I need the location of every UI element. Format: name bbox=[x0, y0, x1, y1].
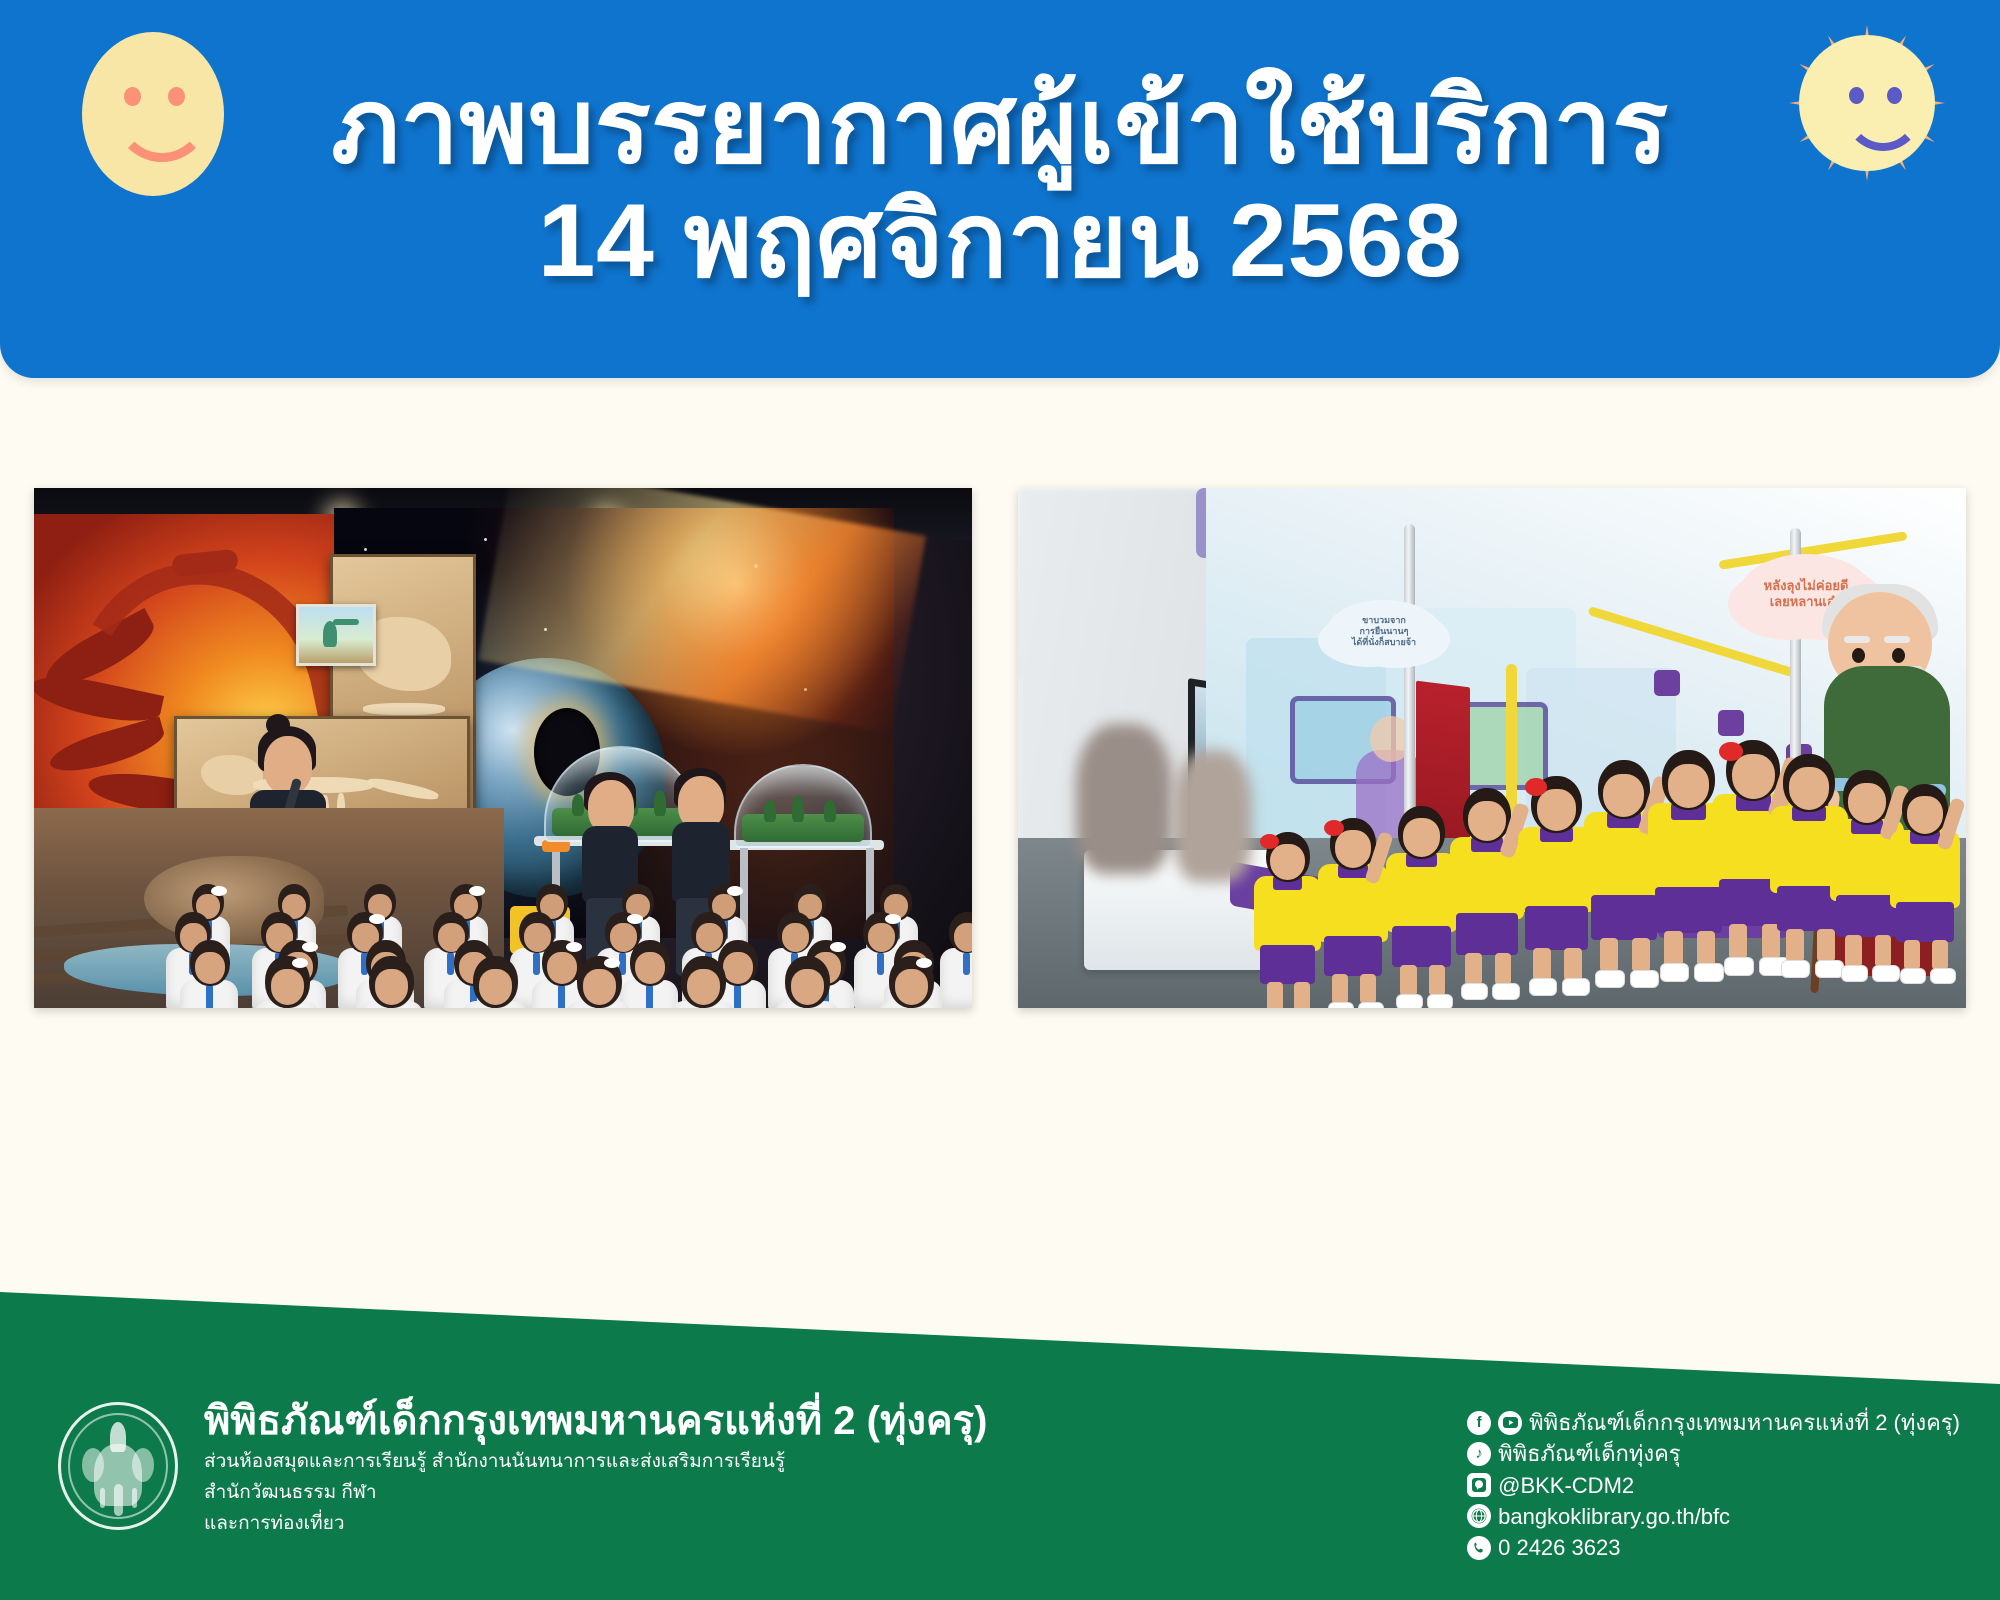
sun-face-icon bbox=[1772, 8, 1962, 198]
title-line-2: 14 พฤศจิกายน 2568 bbox=[331, 183, 1668, 299]
child-purple-shorts bbox=[1836, 895, 1897, 937]
child-face bbox=[1270, 844, 1305, 880]
child-shoe-right bbox=[1930, 968, 1956, 984]
child-purple-shorts bbox=[1896, 902, 1954, 942]
star bbox=[484, 538, 487, 541]
grandpa-eye-right bbox=[1892, 648, 1905, 663]
seal-tusk-right bbox=[132, 1488, 137, 1508]
seated-child bbox=[670, 956, 735, 1008]
child-purple-shorts bbox=[1456, 913, 1517, 955]
child-leg-left bbox=[1845, 935, 1862, 967]
child-leg-left bbox=[1600, 938, 1618, 972]
grandpa-brow-left bbox=[1844, 636, 1870, 643]
contact-row-website[interactable]: bangkoklibrary.go.th/bfc bbox=[1467, 1502, 1960, 1531]
sun-disc bbox=[1799, 35, 1935, 171]
phone-icon[interactable] bbox=[1467, 1536, 1491, 1560]
contact-label: 0 2426 3623 bbox=[1498, 1533, 1620, 1562]
hand-strap bbox=[1718, 710, 1744, 736]
seated-child bbox=[774, 956, 839, 1008]
header-banner: ภาพบรรยากาศผู้เข้าใช้บริการ 14 พฤศจิกายน… bbox=[0, 0, 2000, 378]
contact-row-facebook-youtube[interactable]: f พิพิธภัณฑ์เด็กกรุงเทพมหานครแห่งที่ 2 (… bbox=[1467, 1408, 1960, 1437]
child-hair-bow bbox=[1324, 820, 1344, 836]
contact-list: f พิพิธภัณฑ์เด็กกรุงเทพมหานครแห่งที่ 2 (… bbox=[1467, 1408, 1960, 1564]
grandpa-brow-right bbox=[1884, 636, 1910, 643]
child-hair-bow bbox=[211, 886, 227, 896]
child-shoe-right bbox=[1427, 994, 1453, 1008]
standing-child bbox=[1450, 788, 1524, 989]
dinosaur-scene bbox=[34, 488, 972, 1008]
poster-root: ภาพบรรยากาศผู้เข้าใช้บริการ 14 พฤศจิกายน… bbox=[0, 0, 2000, 1600]
contact-label: @BKK-CDM2 bbox=[1498, 1471, 1634, 1500]
dinosaur-tail bbox=[333, 619, 359, 625]
title-line-1: ภาพบรรยากาศผู้เข้าใช้บริการ bbox=[331, 71, 1668, 183]
child-purple-shorts bbox=[1392, 926, 1451, 967]
seated-child bbox=[180, 940, 238, 1008]
child-leg-left bbox=[1267, 982, 1282, 1008]
organization-sub-2: สำนักวัฒนธรรม กีฬา bbox=[204, 1480, 987, 1507]
dinosaur-illustration-frame bbox=[296, 604, 376, 666]
bubble-line-2: การยืนนานๆ bbox=[1360, 626, 1409, 636]
child-face bbox=[1403, 818, 1440, 857]
child-shoe-left bbox=[1781, 960, 1810, 978]
blurred-visitor bbox=[1076, 724, 1172, 874]
footer-banner: พิพิธภัณฑ์เด็กกรุงเทพมหานครแห่งที่ 2 (ทุ… bbox=[0, 1280, 2000, 1600]
dinosaur-exhibit-photo bbox=[34, 488, 972, 1008]
child-leg-right bbox=[1564, 948, 1582, 981]
seated-child bbox=[566, 956, 631, 1008]
smiley-mouth bbox=[114, 100, 210, 162]
contact-label: พิพิธภัณฑ์เด็กทุ่งครุ bbox=[1498, 1439, 1681, 1468]
sun-mouth bbox=[1844, 97, 1922, 151]
child-necktie bbox=[558, 984, 565, 1008]
child-shoe-left bbox=[1724, 957, 1754, 976]
seated-child bbox=[254, 956, 319, 1008]
child-shoe-right bbox=[1562, 978, 1590, 995]
terrarium-tree bbox=[654, 790, 666, 816]
standing-child bbox=[1890, 784, 1960, 974]
child-necktie bbox=[206, 984, 213, 1008]
child-leg-left bbox=[1904, 940, 1920, 970]
facebook-icon[interactable]: f bbox=[1467, 1411, 1491, 1435]
seal-elephant-trunk bbox=[114, 1484, 123, 1516]
child-shoe-right bbox=[1492, 983, 1519, 1000]
child-shoe-left bbox=[1900, 968, 1926, 984]
child-leg-right bbox=[1360, 974, 1376, 1004]
child-hair-bow bbox=[1260, 834, 1279, 849]
child-hair-bow bbox=[302, 942, 318, 952]
child-shoe-left bbox=[1328, 1002, 1354, 1008]
hand-strap bbox=[1654, 670, 1680, 696]
child-hair-bow bbox=[469, 886, 485, 896]
child-necktie bbox=[963, 952, 970, 975]
fossil-bone bbox=[363, 703, 445, 715]
child-purple-shorts bbox=[1324, 936, 1382, 976]
presenter-head bbox=[264, 736, 312, 794]
seated-child bbox=[878, 956, 943, 1008]
standing-child bbox=[1254, 832, 1321, 1008]
child-necktie bbox=[734, 984, 741, 1008]
contact-label: พิพิธภัณฑ์เด็กกรุงเทพมหานครแห่งที่ 2 (ทุ… bbox=[1529, 1408, 1960, 1437]
child-leg-left bbox=[1729, 924, 1748, 959]
child-leg-left bbox=[1786, 929, 1804, 963]
contact-row-tiktok[interactable]: ♪ พิพิธภัณฑ์เด็กทุ่งครุ bbox=[1467, 1439, 1960, 1468]
page-title: ภาพบรรยากาศผู้เข้าใช้บริการ 14 พฤศจิกายน… bbox=[331, 71, 1668, 300]
child-leg-right bbox=[1495, 953, 1512, 985]
child-hair-bow bbox=[1719, 742, 1743, 761]
child-leg-right bbox=[1875, 935, 1892, 967]
child-leg-right bbox=[1932, 940, 1948, 970]
child-shoe-left bbox=[1529, 978, 1557, 995]
bma-seal-logo bbox=[58, 1402, 178, 1530]
child-hair-bow bbox=[830, 942, 846, 952]
child-leg-left bbox=[1400, 965, 1416, 996]
blurred-visitor bbox=[1174, 750, 1252, 882]
standing-child bbox=[1318, 818, 1388, 1008]
seal-indra-figure bbox=[110, 1422, 126, 1452]
seated-child bbox=[462, 956, 527, 1008]
child-face bbox=[635, 952, 665, 984]
child-purple-shorts bbox=[1525, 906, 1589, 950]
child-face bbox=[1732, 754, 1774, 799]
child-shoe-left bbox=[1660, 963, 1690, 981]
child-shoe-left bbox=[1461, 983, 1488, 1000]
child-shoe-right bbox=[1358, 1002, 1384, 1008]
mural-thought-bubble: ขาบวมจาก การยืนนานๆ ได้ที่นั่งก็สบายจ้า bbox=[1326, 600, 1442, 666]
train-scene: หลังลุงไม่ค่อยดี เลยหลานเอ๋ย ขาบวมจาก กา… bbox=[1018, 488, 1966, 1008]
child-hair-bow bbox=[727, 886, 743, 896]
child-leg-left bbox=[1332, 974, 1348, 1004]
contact-label: bangkoklibrary.go.th/bfc bbox=[1498, 1502, 1730, 1531]
child-leg-right bbox=[1429, 965, 1445, 996]
standing-child bbox=[1386, 806, 1457, 1000]
child-hair-bow bbox=[1525, 778, 1547, 796]
contact-row-line[interactable]: @BKK-CDM2 bbox=[1467, 1471, 1960, 1500]
organization-name: พิพิธภัณฑ์เด็กกรุงเทพมหานครแห่งที่ 2 (ทุ… bbox=[204, 1398, 987, 1445]
child-leg-right bbox=[1294, 982, 1309, 1008]
terrarium-tree bbox=[824, 800, 836, 822]
child-hair-bow bbox=[885, 914, 901, 924]
child-necktie bbox=[646, 984, 653, 1008]
child-face bbox=[1335, 830, 1371, 868]
seated-child bbox=[358, 956, 423, 1008]
bubble-line-3: ได้ที่นั่งก็สบายจ้า bbox=[1352, 637, 1416, 647]
child-hair-bow bbox=[627, 914, 643, 924]
seal-tusk-left bbox=[100, 1488, 105, 1508]
bubble-line-1: ขาบวมจาก bbox=[1362, 615, 1406, 625]
organization-sub-3: และการท่องเที่ยว bbox=[204, 1511, 987, 1538]
child-face bbox=[1789, 767, 1829, 810]
grandpa-eye-left bbox=[1852, 648, 1865, 663]
mural-bubble-text: ขาบวมจาก การยืนนานๆ ได้ที่นั่งก็สบายจ้า bbox=[1326, 615, 1442, 649]
child-shoe-left bbox=[1396, 994, 1422, 1008]
child-shoe-right bbox=[1630, 970, 1659, 988]
globe-icon[interactable] bbox=[1467, 1504, 1491, 1528]
child-leg-left bbox=[1465, 953, 1482, 985]
contact-row-phone[interactable]: 0 2426 3623 bbox=[1467, 1533, 1960, 1562]
child-hair-bow bbox=[369, 914, 385, 924]
child-face bbox=[1668, 764, 1710, 808]
child-face bbox=[1848, 783, 1886, 823]
child-hair-bow bbox=[566, 942, 582, 952]
child-shoe-left bbox=[1841, 965, 1868, 982]
child-purple-shorts bbox=[1260, 945, 1316, 983]
terrarium-tree bbox=[792, 796, 804, 822]
train-carriage-photo: หลังลุงไม่ค่อยดี เลยหลานเอ๋ย ขาบวมจาก กา… bbox=[1018, 488, 1966, 1008]
organization-sub-1: ส่วนห้องสมุดและการเรียนรู้ สำนักงานนันทน… bbox=[204, 1449, 987, 1476]
header-title-area: ภาพบรรยากาศผู้เข้าใช้บริการ 14 พฤศจิกายน… bbox=[0, 0, 2000, 378]
child-leg-left bbox=[1664, 931, 1683, 966]
terrarium-tree bbox=[764, 800, 776, 822]
smiley-face-icon bbox=[82, 32, 224, 196]
star bbox=[364, 548, 367, 551]
child-face bbox=[195, 952, 225, 984]
child-shoe-right bbox=[1694, 963, 1724, 981]
youtube-icon[interactable] bbox=[1498, 1411, 1522, 1435]
line-icon[interactable] bbox=[1467, 1473, 1491, 1497]
child-face bbox=[1907, 796, 1943, 834]
seated-child bbox=[940, 912, 972, 1008]
child-face bbox=[1537, 789, 1577, 831]
child-leg-left bbox=[1533, 948, 1551, 981]
photo-gallery: หลังลุงไม่ค่อยดี เลยหลานเอ๋ย ขาบวมจาก กา… bbox=[0, 378, 2000, 1290]
organization-block: พิพิธภัณฑ์เด็กกรุงเทพมหานครแห่งที่ 2 (ทุ… bbox=[204, 1398, 987, 1538]
fossil-tail bbox=[367, 776, 440, 803]
child-shoe-left bbox=[1595, 970, 1624, 988]
tiktok-icon[interactable]: ♪ bbox=[1467, 1442, 1491, 1466]
child-face bbox=[1468, 801, 1506, 841]
